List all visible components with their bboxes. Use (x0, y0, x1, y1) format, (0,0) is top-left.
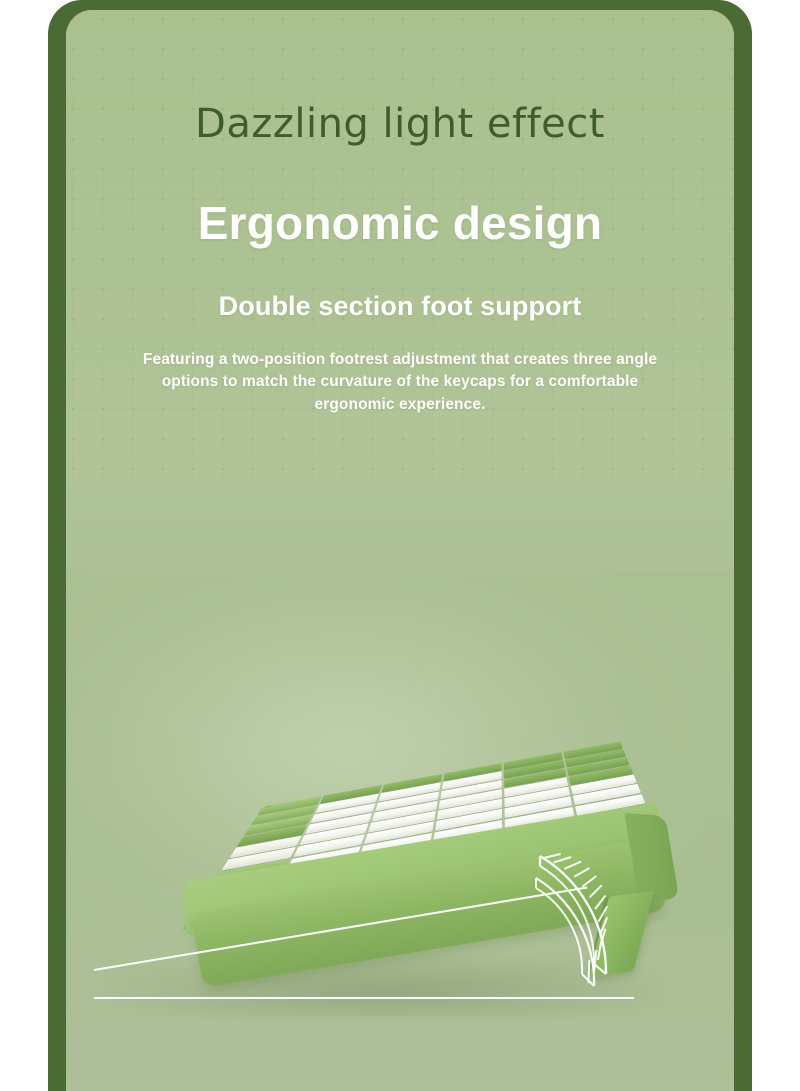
body-paragraph: Featuring a two-position footrest adjust… (135, 349, 665, 416)
content-panel: Dazzling light effect Ergonomic design D… (66, 10, 734, 1091)
product-photo: esc (66, 570, 734, 1091)
outer-frame-border: Dazzling light effect Ergonomic design D… (48, 0, 752, 1091)
subheading: Double section foot support (66, 291, 734, 322)
product-marketing-page: Dazzling light effect Ergonomic design D… (0, 0, 800, 1091)
page-title: Ergonomic design (66, 198, 734, 249)
keyboard-product: esc (129, 588, 708, 1068)
eyebrow-heading: Dazzling light effect (66, 102, 734, 146)
copy-block: Dazzling light effect Ergonomic design D… (66, 10, 734, 416)
keycap-legend: esc (264, 806, 271, 809)
